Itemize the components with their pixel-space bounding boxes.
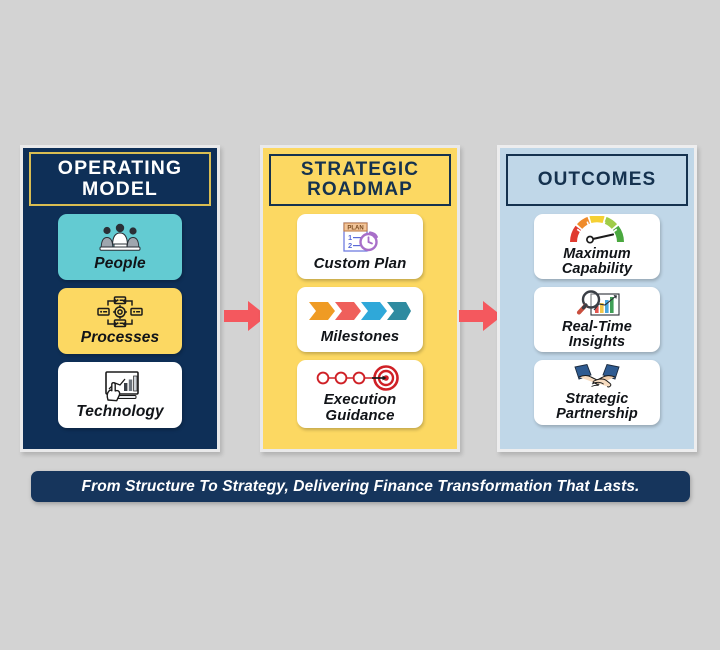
team-people-icon bbox=[92, 221, 148, 255]
plan-clipboard-clock-icon: PLAN 1 2 bbox=[337, 221, 383, 255]
column-header-strategic-roadmap: STRATEGIC ROADMAP bbox=[269, 154, 451, 206]
column-header-operating-model: OPERATING MODEL bbox=[29, 152, 211, 206]
diagram-canvas: OPERATING MODEL bbox=[0, 0, 720, 650]
monitor-chart-hand-icon bbox=[94, 369, 146, 403]
card-label-milestones: Milestones bbox=[321, 329, 400, 344]
column-items-strategic-roadmap: PLAN 1 2 bbox=[263, 214, 457, 443]
column-items-outcomes: Maximum Capability bbox=[500, 214, 694, 443]
column-title-line2: MODEL bbox=[58, 179, 182, 200]
card-processes[interactable]: Processes bbox=[58, 288, 182, 354]
process-workflow-icon bbox=[94, 295, 146, 329]
tagline-text: From Structure To Strategy, Delivering F… bbox=[82, 478, 640, 496]
card-maximum-capability[interactable]: Maximum Capability bbox=[534, 214, 660, 279]
card-label-processes: Processes bbox=[81, 330, 159, 346]
column-strategic-roadmap[interactable]: STRATEGIC ROADMAP PLAN 1 2 bbox=[260, 145, 460, 452]
column-header-outcomes: OUTCOMES bbox=[506, 154, 688, 206]
card-real-time-insights[interactable]: Real-Time Insights bbox=[534, 287, 660, 352]
card-label-custom-plan: Custom Plan bbox=[314, 256, 407, 271]
chevron-milestones-icon bbox=[308, 294, 412, 328]
gauge-speedometer-icon bbox=[566, 216, 628, 246]
tagline-banner: From Structure To Strategy, Delivering F… bbox=[31, 471, 690, 502]
path-to-target-icon bbox=[314, 364, 406, 391]
column-title-line1: STRATEGIC bbox=[301, 160, 419, 180]
column-operating-model[interactable]: OPERATING MODEL bbox=[20, 145, 220, 452]
card-strategic-partnership[interactable]: Strategic Partnership bbox=[534, 360, 660, 425]
svg-text:2: 2 bbox=[348, 241, 352, 250]
card-label-strategic-partnership-line2: Partnership bbox=[556, 407, 638, 422]
column-title-line2: ROADMAP bbox=[301, 180, 419, 200]
card-label-execution-guidance-line1: Execution bbox=[324, 392, 397, 407]
card-milestones[interactable]: Milestones bbox=[297, 287, 423, 352]
column-items-operating-model: People bbox=[23, 214, 217, 443]
card-label-maximum-capability-line2: Capability bbox=[562, 262, 632, 277]
card-label-real-time-insights-line2: Insights bbox=[562, 335, 632, 350]
card-technology[interactable]: Technology bbox=[58, 362, 182, 428]
card-label-technology: Technology bbox=[76, 404, 163, 420]
column-title-line1: OUTCOMES bbox=[538, 170, 657, 190]
card-people[interactable]: People bbox=[58, 214, 182, 280]
card-label-people: People bbox=[94, 256, 145, 272]
column-outcomes[interactable]: OUTCOMES bbox=[497, 145, 697, 452]
card-label-execution-guidance-line2: Guidance bbox=[324, 408, 397, 423]
card-label-real-time-insights-line1: Real-Time bbox=[562, 320, 632, 335]
svg-text:PLAN: PLAN bbox=[347, 226, 363, 232]
handshake-icon bbox=[571, 363, 623, 391]
card-custom-plan[interactable]: PLAN 1 2 bbox=[297, 214, 423, 279]
magnifier-bar-chart-icon bbox=[571, 289, 623, 319]
column-title-line1: OPERATING bbox=[58, 158, 182, 179]
card-execution-guidance[interactable]: Execution Guidance bbox=[297, 360, 423, 428]
card-label-strategic-partnership-line1: Strategic bbox=[556, 392, 638, 407]
card-label-maximum-capability-line1: Maximum bbox=[562, 247, 632, 262]
